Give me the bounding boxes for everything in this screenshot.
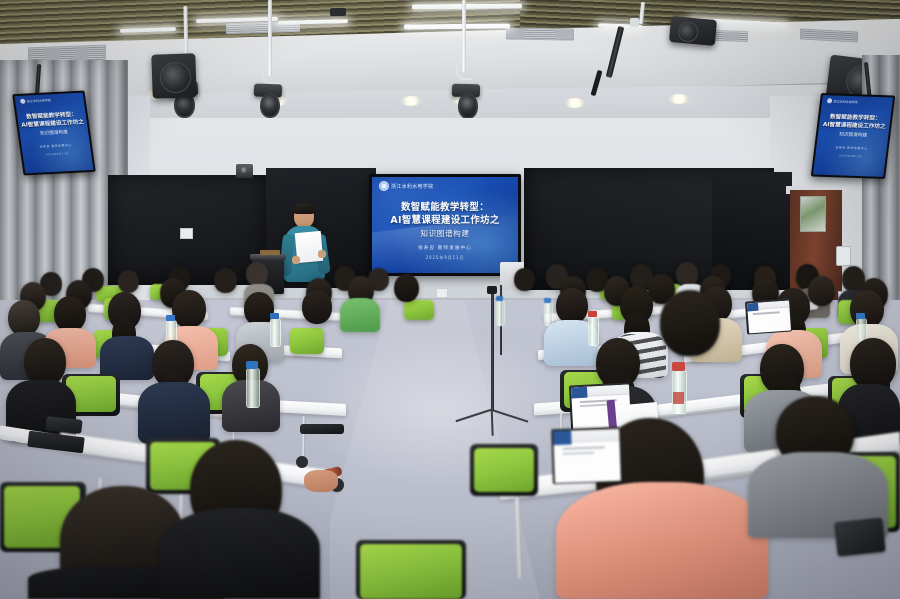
mic-head-icon — [487, 286, 497, 294]
document-app-accent — [570, 386, 587, 399]
chair-back[interactable] — [360, 544, 462, 599]
light-cable — [456, 66, 472, 80]
document-text-line — [562, 447, 604, 450]
speaker-cone-icon — [678, 22, 698, 42]
podium-book — [260, 250, 280, 255]
right-tv-title: 数智赋能教学转型： AI智慧课程建设工作坊之 — [819, 113, 891, 131]
attendee-body — [138, 382, 210, 444]
right-tv-logo: 浙江水利水电学院 — [827, 98, 858, 104]
camera-lens-icon — [241, 167, 248, 174]
presenter-hand — [292, 256, 300, 264]
right-tv-logo-text: 浙江水利水电学院 — [833, 99, 858, 104]
wall-outlet[interactable] — [436, 288, 448, 298]
university-logo-mark-icon — [20, 99, 26, 104]
smartphone-on-desk[interactable] — [834, 518, 885, 557]
spotlight-lens-icon — [458, 93, 478, 119]
ceiling-downlight — [564, 98, 586, 108]
attendee-head — [556, 288, 588, 324]
right-tv-slide: 浙江水利水电学院 数智赋能教学转型： AI智慧课程建设工作坊之 知识图谱构建 徐… — [813, 95, 893, 177]
slide-content: 浙江水利水电学院 数智赋能教学转型： AI智慧课程建设工作坊之 知识图谱构建 徐… — [372, 177, 518, 273]
spotlight-lens-icon — [260, 93, 280, 118]
presenter-hand — [318, 250, 326, 258]
chair-back[interactable] — [290, 328, 324, 354]
slide-date: 2025年9月11日 — [372, 255, 518, 261]
laptop-screen — [553, 428, 621, 482]
mic-stand-pole[interactable] — [491, 292, 494, 410]
light-hanger-pole — [268, 0, 272, 76]
slide-title-line2: AI智慧课程建设工作坊之 — [372, 214, 518, 227]
caster-wheel — [296, 456, 308, 468]
left-tv-logo-text: 浙江水利水电学院 — [27, 98, 52, 103]
attendee-head — [172, 290, 206, 328]
attendee-head — [118, 270, 139, 293]
left-tv-subtitle: 知识图谱构建 — [19, 128, 88, 138]
right-tv-presenter: 徐寿良 教师发展中心 — [816, 145, 887, 151]
light-cable — [262, 70, 280, 84]
chair-back[interactable] — [404, 300, 434, 320]
document-app-accent — [747, 302, 759, 311]
lecture-hall-photo: 浙江水利水电学院 数智赋能教学转型： AI智慧课程建设工作坊之 知识图谱构建 徐… — [0, 0, 900, 599]
attendee-body — [160, 508, 320, 599]
right-tv-subtitle: 知识图谱构建 — [818, 131, 889, 139]
attendee-head — [246, 262, 268, 286]
left-tv-presenter: 徐寿良 教师发展中心 — [21, 142, 90, 150]
university-logo-mark-icon — [379, 181, 389, 191]
ceiling-downlight — [668, 94, 690, 104]
attendee-head — [8, 300, 40, 336]
main-projection-screen: 浙江水利水电学院 数智赋能教学转型： AI智慧课程建设工作坊之 知识图谱构建 徐… — [369, 174, 521, 276]
attendee-head — [850, 338, 896, 390]
attendee-head — [394, 274, 419, 302]
speaker-cone-icon — [160, 62, 191, 93]
bottle-cap-icon — [166, 315, 175, 321]
water-bottle[interactable] — [270, 318, 281, 347]
strip-light — [404, 24, 510, 30]
right-tv-title-line2: AI智慧课程建设工作坊之 — [819, 121, 890, 131]
left-tv-slide: 浙江水利水电学院 数智赋能教学转型： AI智慧课程建设工作坊之 知识图谱构建 徐… — [14, 93, 93, 174]
laptop[interactable] — [745, 298, 792, 334]
attendee-head — [808, 276, 835, 306]
university-logo-text: 浙江水利水电学院 — [391, 183, 433, 190]
ceiling-downlight — [400, 96, 422, 106]
right-tv-date: 2025年9月11日 — [815, 153, 886, 159]
slide-subtitle: 知识图谱构建 — [372, 228, 518, 239]
attendee-head — [24, 338, 66, 386]
attendee-head — [302, 290, 332, 324]
slide-presenter: 徐寿良 教师发展中心 — [372, 245, 518, 251]
right-display-tv: 浙江水利水电学院 数智赋能教学转型： AI智慧课程建设工作坊之 知识图谱构建 徐… — [811, 93, 895, 179]
ceiling-vent — [506, 27, 574, 40]
bottle-label — [673, 392, 684, 404]
left-tv-title: 数智赋能教学转型： AI智慧课程建设工作坊之 — [17, 110, 87, 129]
document-text-line — [753, 311, 780, 315]
bottle-cap-icon — [856, 313, 865, 319]
slide-title: 数智赋能教学转型： AI智慧课程建设工作坊之 — [372, 201, 518, 227]
attendee-head — [514, 268, 535, 291]
water-bottle[interactable] — [246, 368, 260, 408]
attendee-body-green-shirt — [340, 298, 380, 332]
wall-picture-frame — [800, 196, 826, 232]
ceiling-camera — [330, 8, 346, 16]
left-display-tv: 浙江水利水电学院 数智赋能教学转型： AI智慧课程建设工作坊之 知识图谱构建 徐… — [12, 91, 96, 176]
university-logo: 浙江水利水电学院 — [379, 181, 433, 191]
attendee-hand — [304, 470, 338, 492]
light-hanger-pole — [462, 0, 466, 72]
bottle-cap-icon — [672, 362, 685, 371]
document-app-accent — [553, 430, 572, 445]
light-mount — [630, 18, 639, 27]
bottle-cap-icon — [496, 296, 503, 301]
phone-screen — [835, 519, 884, 556]
left-tv-logo: 浙江水利水电学院 — [20, 97, 51, 104]
bottle-cap-icon — [246, 361, 258, 369]
water-bottle[interactable] — [588, 316, 599, 346]
bottle-cap-icon — [588, 311, 597, 317]
attendee-body-salmon-blouse — [556, 482, 768, 599]
chair-back[interactable] — [474, 448, 534, 492]
presenter-hair — [293, 203, 315, 214]
light-switch-panel[interactable] — [836, 246, 851, 266]
laptop[interactable] — [551, 427, 622, 484]
bottle-cap-icon — [544, 298, 551, 303]
slide-title-line1: 数智赋能教学转型： — [372, 201, 518, 214]
document-text-line — [563, 452, 595, 455]
attendee-head — [660, 290, 720, 356]
attendee-head — [214, 268, 237, 293]
laptop-screen — [747, 300, 791, 333]
document-text-line — [580, 404, 608, 407]
attendee-head — [676, 262, 698, 286]
laptop-closed[interactable] — [300, 424, 344, 434]
left-tv-date: 2025年9月11日 — [23, 150, 92, 158]
wall-switch[interactable] — [180, 228, 193, 239]
university-logo-mark-icon — [827, 98, 833, 103]
attendee-head — [54, 296, 86, 332]
water-bottle[interactable] — [496, 300, 505, 326]
bottle-cap-icon — [270, 313, 279, 319]
